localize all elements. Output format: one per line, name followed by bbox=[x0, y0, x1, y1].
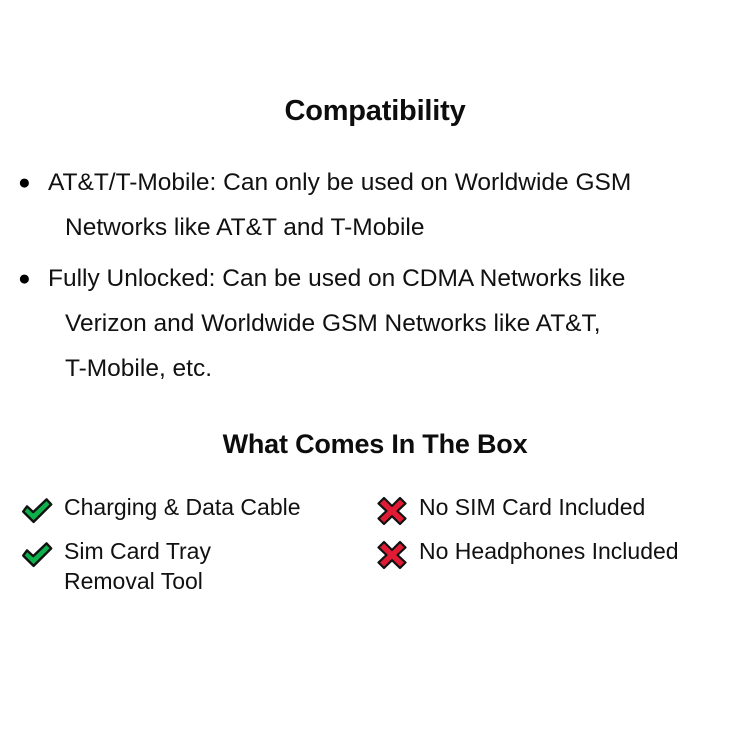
red-cross-icon bbox=[375, 494, 409, 528]
box-contents-grid: Charging & Data Cable No SIM Card Includ… bbox=[20, 492, 730, 604]
included-item-charging-cable: Charging & Data Cable bbox=[20, 492, 375, 528]
red-cross-icon bbox=[375, 538, 409, 572]
bullet-first-line: ● AT&T/T-Mobile: Can only be used on Wor… bbox=[18, 160, 734, 205]
bullet-item-fully-unlocked: ● Fully Unlocked: Can be used on CDMA Ne… bbox=[18, 256, 734, 391]
bullet-dot-icon: ● bbox=[18, 256, 48, 301]
bullet-text-line-1: Fully Unlocked: Can be used on CDMA Netw… bbox=[48, 256, 734, 301]
bullet-dot-icon: ● bbox=[18, 160, 48, 205]
included-item-label: Charging & Data Cable bbox=[64, 492, 301, 522]
product-info-panel: Compatibility ● AT&T/T-Mobile: Can only … bbox=[0, 0, 750, 750]
bullet-text-line-1: AT&T/T-Mobile: Can only be used on World… bbox=[48, 160, 734, 205]
box-contents-row: Sim Card Tray Removal Tool No Headphones… bbox=[20, 536, 730, 596]
excluded-item-label: No Headphones Included bbox=[419, 536, 679, 566]
bullet-text-line-3: T-Mobile, etc. bbox=[18, 346, 734, 391]
included-item-label: Sim Card Tray Removal Tool bbox=[64, 536, 211, 596]
bullet-text-line-2: Verizon and Worldwide GSM Networks like … bbox=[18, 301, 734, 346]
bullet-item-att-tmobile: ● AT&T/T-Mobile: Can only be used on Wor… bbox=[18, 160, 734, 250]
compatibility-bullet-list: ● AT&T/T-Mobile: Can only be used on Wor… bbox=[18, 160, 734, 397]
excluded-item-headphones: No Headphones Included bbox=[375, 536, 725, 572]
excluded-item-sim-card: No SIM Card Included bbox=[375, 492, 725, 528]
box-contents-row: Charging & Data Cable No SIM Card Includ… bbox=[20, 492, 730, 528]
green-check-icon bbox=[20, 538, 54, 572]
bullet-first-line: ● Fully Unlocked: Can be used on CDMA Ne… bbox=[18, 256, 734, 301]
compatibility-heading: Compatibility bbox=[0, 94, 750, 128]
bullet-text-line-2: Networks like AT&T and T-Mobile bbox=[18, 205, 734, 250]
included-item-sim-tray-tool: Sim Card Tray Removal Tool bbox=[20, 536, 375, 596]
green-check-icon bbox=[20, 494, 54, 528]
excluded-item-label: No SIM Card Included bbox=[419, 492, 645, 522]
box-contents-heading: What Comes In The Box bbox=[0, 428, 750, 460]
